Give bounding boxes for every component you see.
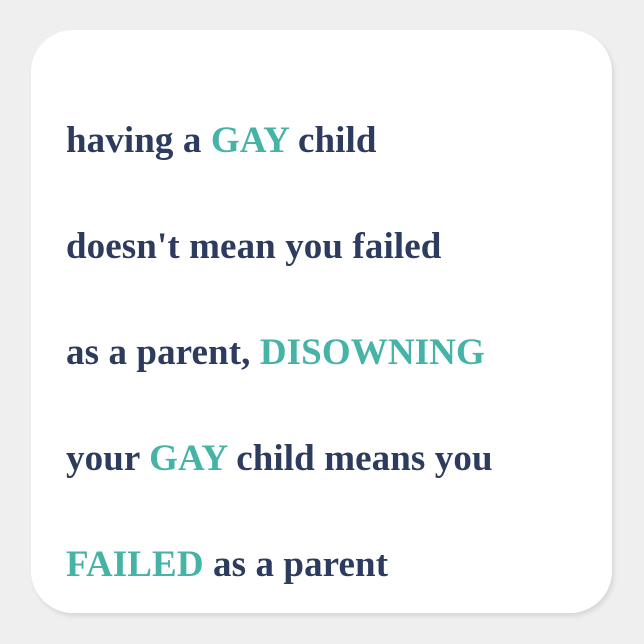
quote-plain-text: your [66,438,149,479]
quote-plain-text: child means you [227,438,493,479]
quote-plain-text: having a [66,120,211,161]
quote-line: doesn't mean you failed [66,194,586,300]
quote-line: as a parent, DISOWNING [66,300,586,406]
quote-plain-text: doesn't mean you failed [66,226,441,267]
quote-text-block: having a GAY childdoesn't mean you faile… [66,88,586,613]
quote-line: having a GAY child [66,88,586,194]
quote-emphasis-word: FAILED [66,544,204,585]
quote-plain-text: as a parent, [66,332,260,373]
quote-plain-text: as a parent [204,544,389,585]
sticker-canvas: having a GAY childdoesn't mean you faile… [0,0,644,644]
quote-emphasis-word: GAY [211,120,289,161]
quote-emphasis-word: GAY [149,438,227,479]
quote-emphasis-word: DISOWNING [260,332,485,373]
sticker-card: having a GAY childdoesn't mean you faile… [31,30,612,613]
quote-line: FAILED as a parent [66,512,586,613]
quote-plain-text: child [289,120,377,161]
quote-line: your GAY child means you [66,406,586,512]
